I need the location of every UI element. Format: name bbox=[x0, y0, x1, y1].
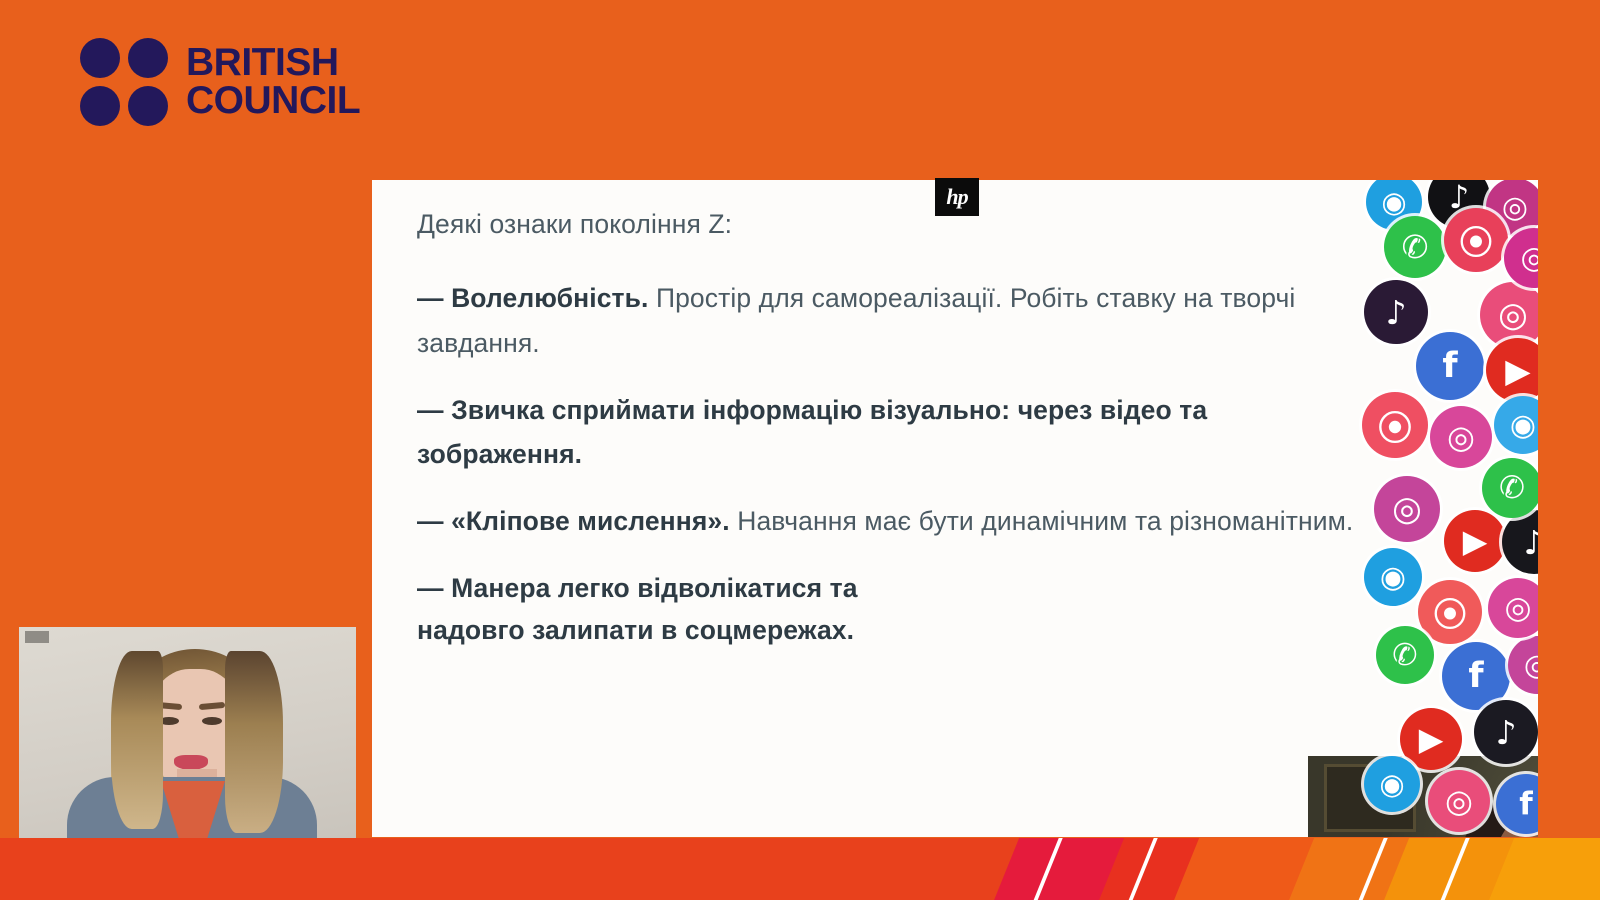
social-media-icon: ◉ bbox=[1364, 756, 1420, 812]
logo-line-2: COUNCIL bbox=[186, 82, 360, 120]
social-media-icon: ♪ bbox=[1474, 700, 1538, 764]
intro-text: Деякі ознаки покоління Z: bbox=[417, 209, 732, 239]
webcam-corner-indicator bbox=[25, 631, 49, 643]
shared-slide: Деякі ознаки покоління Z: — Волелюбність… bbox=[372, 180, 1538, 837]
social-media-icon: ◉ bbox=[1494, 396, 1538, 454]
social-media-icon: ♪ bbox=[1364, 280, 1428, 344]
slide-paragraph-2: — Звичка сприймати інформацію візуально:… bbox=[417, 388, 1367, 477]
logo-line-1: BRITISH bbox=[186, 44, 360, 82]
social-media-icon: ✆ bbox=[1482, 458, 1538, 518]
hp-glyph-icon: hp bbox=[946, 186, 967, 208]
speaker-webcam-tile[interactable] bbox=[19, 627, 356, 839]
logo-wordmark: BRITISH COUNCIL bbox=[186, 44, 360, 120]
speaker-eye-right bbox=[202, 717, 222, 725]
paragraph-2-text: — Звичка сприймати інформацію візуально:… bbox=[417, 395, 1207, 469]
presentation-screen: BRITISH COUNCIL Деякі ознаки покоління Z… bbox=[0, 0, 1600, 900]
social-media-icon: ◎ bbox=[1504, 228, 1538, 288]
logo-dot bbox=[80, 38, 120, 78]
social-media-icon: ◎ bbox=[1430, 406, 1492, 468]
logo-dot bbox=[128, 86, 168, 126]
social-media-icon: ♪ bbox=[1502, 510, 1538, 574]
paragraph-3-lead: — «Кліпове мислення». bbox=[417, 506, 730, 536]
social-media-icon: ◎ bbox=[1508, 636, 1538, 694]
social-media-icon: ⦿ bbox=[1362, 392, 1428, 458]
social-media-icon: f bbox=[1496, 774, 1538, 834]
paragraph-3-text: Навчання має бути динамічним та різноман… bbox=[730, 506, 1354, 536]
social-media-icon: ◉ bbox=[1364, 548, 1422, 606]
social-media-icon: ▶ bbox=[1486, 338, 1538, 402]
logo-dot bbox=[128, 38, 168, 78]
paragraph-4-text: — Манера легко відволікатися та надовго … bbox=[417, 573, 858, 646]
social-media-icon: ◎ bbox=[1488, 578, 1538, 638]
logo-dots-icon bbox=[80, 38, 168, 126]
logo-dot bbox=[80, 86, 120, 126]
hp-logo: hp bbox=[935, 178, 979, 216]
social-media-icon: ▶ bbox=[1400, 708, 1462, 770]
social-media-icon: ◎ bbox=[1374, 476, 1440, 542]
speaker-mouth bbox=[174, 755, 208, 770]
slide-paragraph-3: — «Кліпове мислення». Навчання має бути … bbox=[417, 499, 1367, 543]
speaker-hair-right bbox=[225, 651, 283, 833]
slide-paragraph-1: — Волелюбність. Простір для самореалізац… bbox=[417, 276, 1367, 365]
bottom-decorative-band bbox=[0, 838, 1600, 900]
social-media-icon: ▶ bbox=[1444, 510, 1506, 572]
social-media-icon-collage: ◉♪◎✆⦿◎♪◎f▶⦿◎◉✆◎▶♪◉⦿◎✆f◎▶♪◉◎f bbox=[1358, 180, 1538, 837]
british-council-logo: BRITISH COUNCIL bbox=[80, 38, 360, 126]
social-media-icon: ✆ bbox=[1376, 626, 1434, 684]
social-media-icon: ⦿ bbox=[1418, 580, 1482, 644]
slide-paragraph-4: — Манера легко відволікатися та надовго … bbox=[417, 567, 937, 653]
slide-text-block: Деякі ознаки покоління Z: — Волелюбність… bbox=[417, 202, 1367, 675]
slide-paragraph-intro: Деякі ознаки покоління Z: bbox=[417, 202, 1367, 246]
social-media-icon: ◎ bbox=[1428, 770, 1490, 832]
social-media-icon: f bbox=[1416, 332, 1484, 400]
social-media-icon: ⦿ bbox=[1444, 208, 1508, 272]
social-media-icon: ✆ bbox=[1384, 216, 1446, 278]
speaker-hair-left bbox=[111, 651, 163, 829]
paragraph-1-lead: — Волелюбність. bbox=[417, 283, 648, 313]
